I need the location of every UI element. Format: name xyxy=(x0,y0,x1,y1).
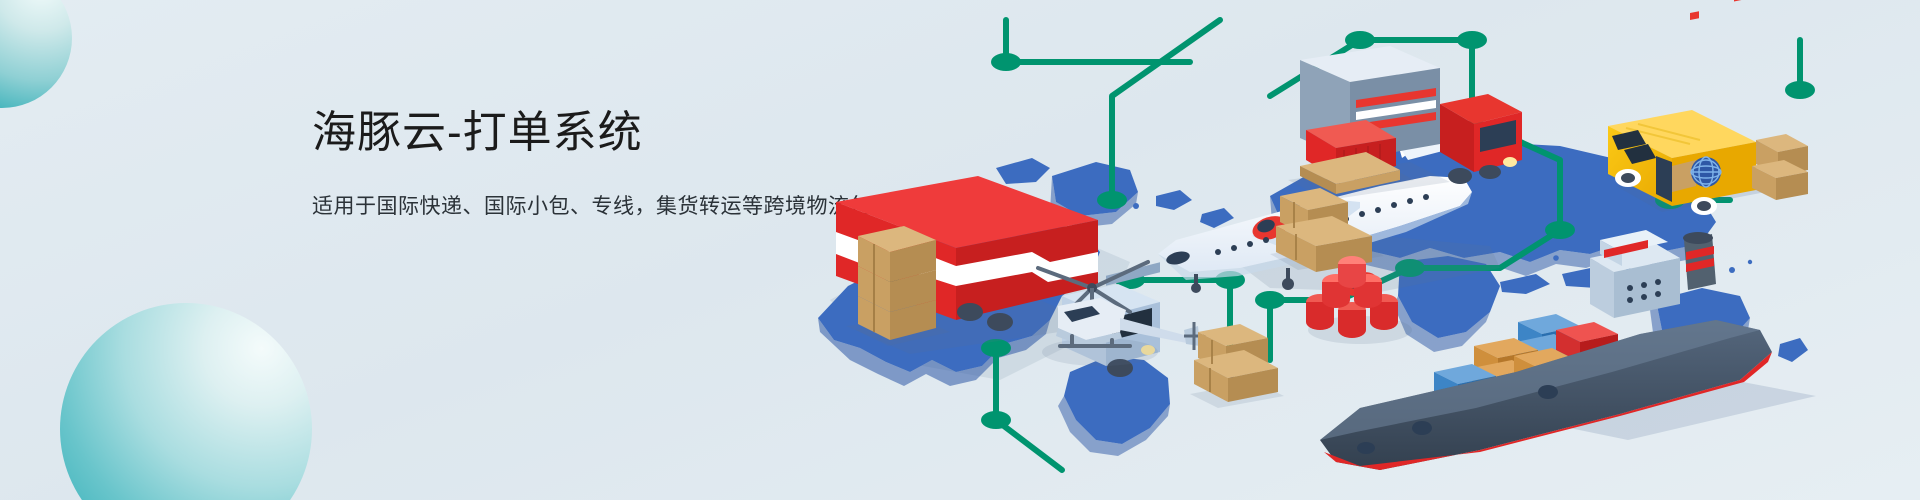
van-open-door xyxy=(1656,156,1672,202)
landmass-newzealand xyxy=(1778,338,1808,362)
decorative-circle-top-left xyxy=(0,0,72,108)
ship-funnel xyxy=(1683,232,1716,290)
landmass-indonesia-2 xyxy=(1500,274,1550,294)
landmass-arctic-islands xyxy=(996,158,1050,184)
landmass-island-a xyxy=(1156,190,1192,210)
barrel xyxy=(1338,256,1366,288)
network-node xyxy=(1457,31,1487,49)
network-node xyxy=(1255,291,1285,309)
cardboard-box-stack-left xyxy=(856,226,950,346)
globe-logo xyxy=(1691,157,1721,187)
delivery-van xyxy=(1608,0,1808,215)
network-node xyxy=(1097,191,1127,209)
boxtruck-headlight xyxy=(1503,157,1517,167)
logistics-illustration-svg xyxy=(800,0,1920,500)
decorative-circle-bottom-left xyxy=(60,303,312,500)
hero-banner: 海豚云-打单系统 适用于国际快递、国际小包、专线，集货转运等跨境物流包裹处理 xyxy=(0,0,1920,500)
van-taillight xyxy=(1690,11,1699,20)
network-node xyxy=(991,53,1021,71)
barrel xyxy=(1338,302,1366,338)
landmass-island-b xyxy=(1200,208,1234,228)
logistics-illustration xyxy=(800,0,1920,500)
van-taillight xyxy=(1734,0,1743,1)
network-node xyxy=(981,411,1011,429)
van-side-boxes xyxy=(1752,134,1808,200)
network-node xyxy=(1545,221,1575,239)
network-node xyxy=(1345,31,1375,49)
network-node xyxy=(1785,81,1815,99)
